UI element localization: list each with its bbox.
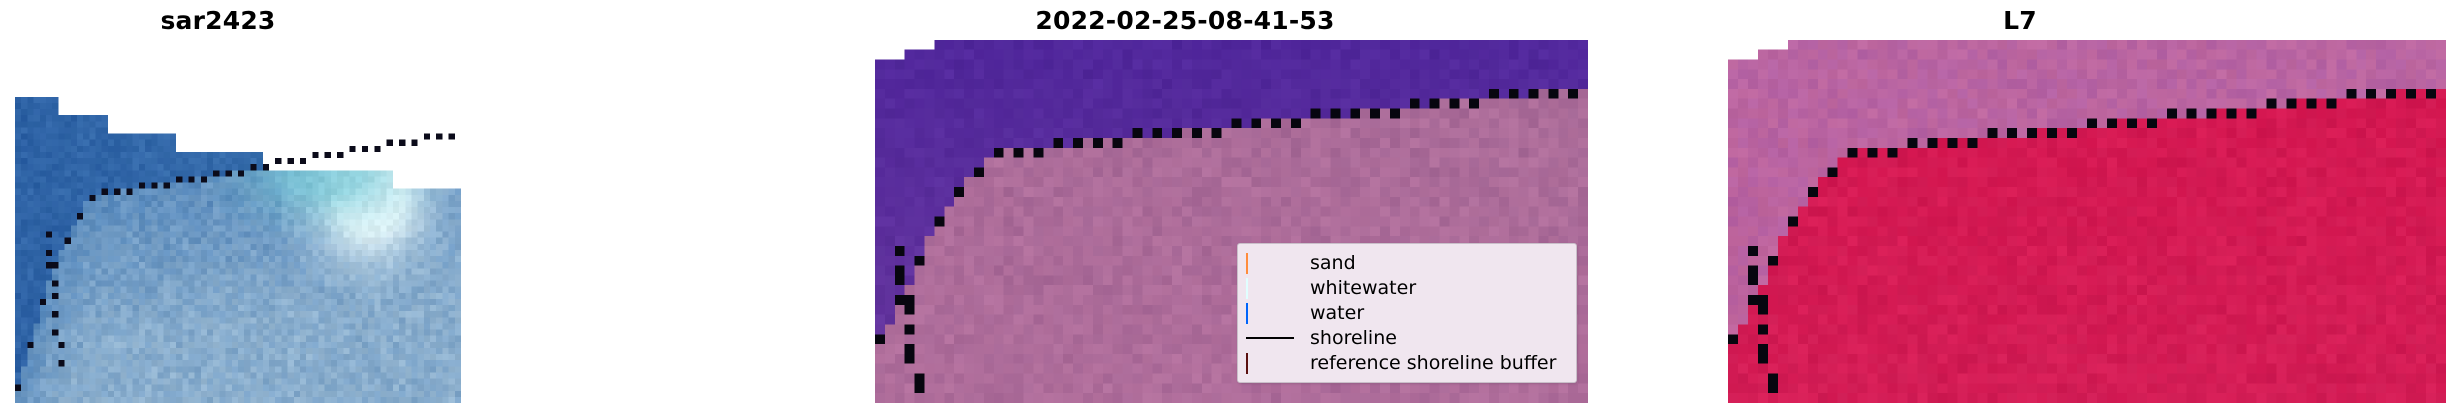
legend-item-reference-shoreline-buffer: reference shoreline buffer <box>1246 350 1568 375</box>
legend-label-whitewater: whitewater <box>1310 277 1416 299</box>
panel-l7: L7 <box>1690 0 2460 420</box>
image-sar2423 <box>15 60 461 403</box>
panel-title-sar2423: sar2423 <box>0 6 498 36</box>
image-classified-l7 <box>1728 30 2446 403</box>
legend-label-water: water <box>1310 302 1364 324</box>
water-swatch-icon <box>1246 304 1294 322</box>
reference-buffer-swatch-icon <box>1246 354 1294 372</box>
legend-item-whitewater: whitewater <box>1246 275 1568 300</box>
legend-item-water: water <box>1246 300 1568 325</box>
figure-canvas: sar2423 2022-02-25-08-41-53 L7 sand <box>0 0 2460 420</box>
sand-swatch-icon <box>1246 254 1294 272</box>
legend: sand whitewater water shoreline referenc <box>1237 243 1577 383</box>
legend-item-shoreline: shoreline <box>1246 325 1568 350</box>
shoreline-line-icon <box>1246 329 1294 347</box>
panel-sar2423: sar2423 <box>0 0 560 420</box>
whitewater-swatch-icon <box>1246 279 1294 297</box>
legend-label-sand: sand <box>1310 252 1356 274</box>
legend-label-reference-shoreline-buffer: reference shoreline buffer <box>1310 352 1556 374</box>
legend-label-shoreline: shoreline <box>1310 327 1397 349</box>
legend-item-sand: sand <box>1246 250 1568 275</box>
